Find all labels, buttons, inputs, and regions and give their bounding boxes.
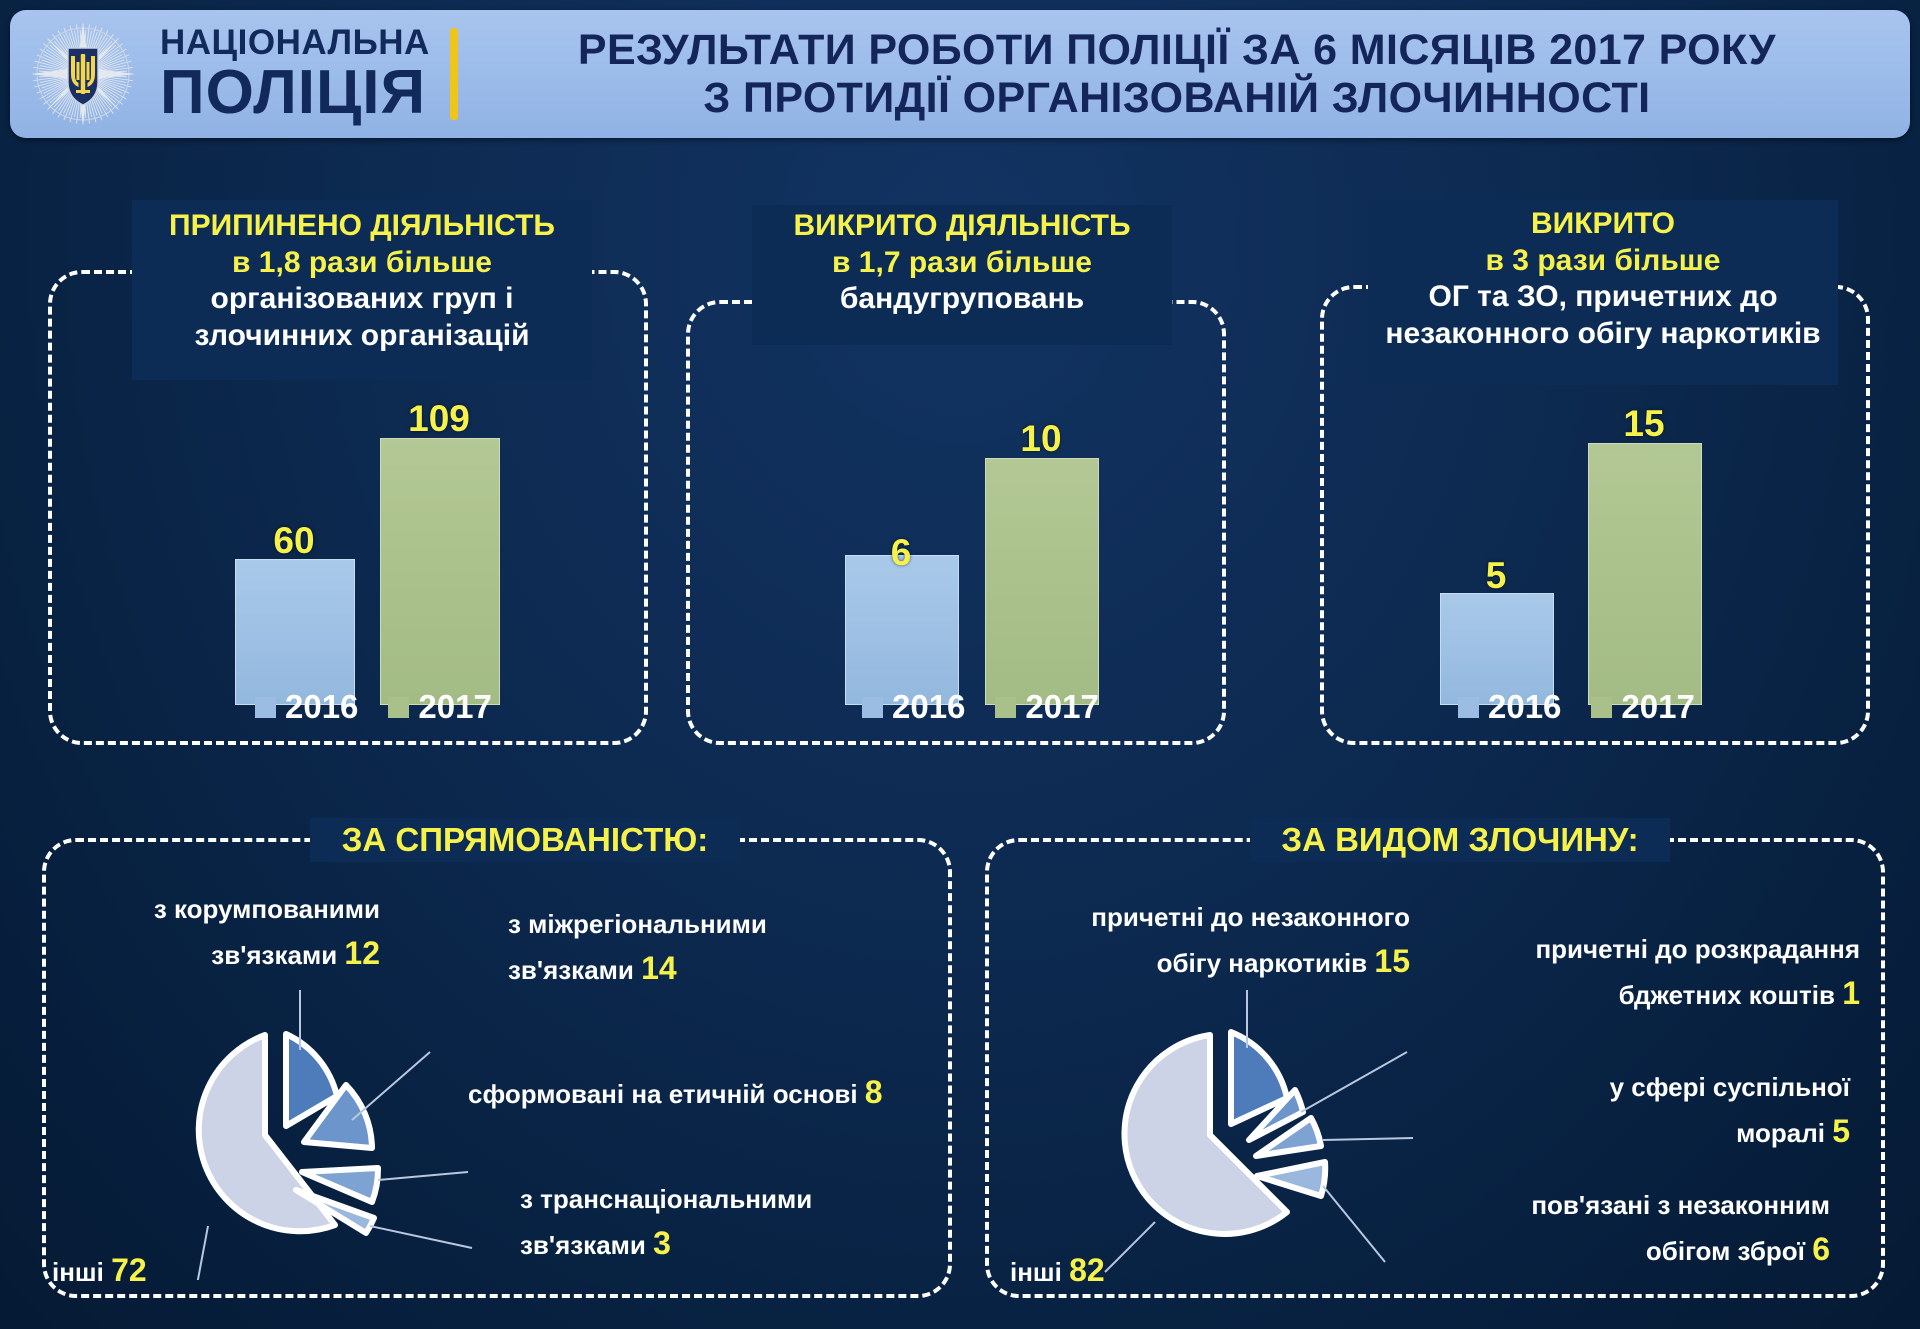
pie-label-interregional-links: з міжрегіональними зв'язками 14	[508, 905, 848, 992]
bar-2017-value: 10	[985, 418, 1097, 460]
legend-item-2016: 2016	[255, 688, 358, 726]
pie-label-ethnic-basis-line1: сформовані на етичній основі	[468, 1079, 858, 1109]
bars-stopped-activity: 60 109	[235, 440, 495, 705]
panel-1-title-white-1: організованих груп і	[122, 281, 602, 318]
panel-1-title-yellow-2: в 1,8 рази більше	[122, 245, 602, 282]
bar-2016-value: 60	[235, 520, 353, 562]
panel-2-title-yellow-1: ВИКРИТО ДІЯЛЬНІСТЬ	[742, 208, 1182, 245]
legend-swatch-2016-icon	[1458, 697, 1479, 718]
brand-line-2: ПОЛІЦІЯ	[160, 62, 430, 124]
brand-wordmark: НАЦІОНАЛЬНА ПОЛІЦІЯ	[160, 25, 430, 124]
pie-label-corrupt-links-line2: зв'язками	[211, 940, 337, 970]
pie-label-drug-trafficking-value: 15	[1374, 943, 1410, 979]
legend-panel-3: 2016 2017	[1458, 688, 1695, 726]
page-header: НАЦІОНАЛЬНА ПОЛІЦІЯ РЕЗУЛЬТАТИ РОБОТИ ПО…	[10, 10, 1910, 138]
pie-label-interregional-links-line2: зв'язками	[508, 955, 634, 985]
pie-label-public-morality: у сфері суспільної моралі 5	[1490, 1068, 1850, 1155]
page-title: РЕЗУЛЬТАТИ РОБОТИ ПОЛІЦІЇ ЗА 6 МІСЯЦІВ 2…	[484, 26, 1910, 122]
pie-label-other-left-line1: інші	[52, 1257, 104, 1287]
panel-5-title: ЗА ВИДОМ ЗЛОЧИНУ:	[1240, 820, 1680, 860]
bars-exposed-activity: 6 10	[845, 460, 1095, 705]
bar-2017-value: 15	[1588, 403, 1700, 445]
bar-2016	[235, 559, 355, 705]
pie-label-drug-trafficking-line2: обігу наркотиків	[1157, 948, 1368, 978]
pie-label-budget-embezzlement: причетні до розкрадання бджетних коштів …	[1470, 930, 1860, 1017]
panel-3-title-white-1: ОГ та ЗО, причетних до	[1358, 279, 1848, 316]
pie-label-weapons-trafficking-line2: обігом зброї	[1646, 1236, 1805, 1266]
legend-label-2016: 2016	[892, 688, 965, 726]
bar-2016-value: 5	[1440, 555, 1552, 597]
pie-by-direction	[90, 990, 490, 1280]
pie-label-drug-trafficking: причетні до незаконного обігу наркотиків…	[1010, 898, 1410, 985]
pie-label-transnational-links: з транснаціональними зв'язками 3	[520, 1180, 870, 1267]
legend-item-2016: 2016	[862, 688, 965, 726]
pie-label-other-right-value: 82	[1069, 1252, 1105, 1288]
bars-exposed-drugs: 5 15	[1440, 445, 1700, 705]
bar-2017	[985, 458, 1099, 705]
brand-line-1: НАЦІОНАЛЬНА	[160, 25, 430, 60]
legend-item-2017: 2017	[995, 688, 1098, 726]
page-title-line-2: З ПРОТИДІЇ ОРГАНІЗОВАНІЙ ЗЛОЧИННОСТІ	[484, 74, 1870, 122]
panel-4-title: ЗА СПРЯМОВАНІСТЮ:	[300, 820, 750, 860]
panel-1-title: ПРИПИНЕНО ДІЯЛЬНІСТЬ в 1,8 рази більше о…	[122, 208, 602, 354]
legend-label-2017: 2017	[1025, 688, 1098, 726]
legend-panel-2: 2016 2017	[862, 688, 1099, 726]
pie-label-public-morality-value: 5	[1832, 1113, 1850, 1149]
ukraine-police-star-emblem	[24, 15, 142, 133]
legend-swatch-2017-icon	[995, 697, 1016, 718]
legend-label-2016: 2016	[1488, 688, 1561, 726]
bar-2017	[1588, 443, 1702, 705]
panel-3-title: ВИКРИТО в 3 рази більше ОГ та ЗО, причет…	[1358, 206, 1848, 352]
legend-label-2016: 2016	[285, 688, 358, 726]
pie-label-other-left-value: 72	[111, 1252, 147, 1288]
legend-item-2017: 2017	[1591, 688, 1694, 726]
header-divider	[450, 28, 458, 120]
pie-label-corrupt-links-value: 12	[344, 935, 380, 971]
pie-label-other-left: інші 72	[52, 1246, 292, 1294]
pie-label-interregional-links-line1: з міжрегіональними	[508, 909, 767, 939]
legend-item-2017: 2017	[388, 688, 491, 726]
legend-panel-1: 2016 2017	[255, 688, 492, 726]
legend-item-2016: 2016	[1458, 688, 1561, 726]
pie-label-transnational-links-value: 3	[653, 1225, 671, 1261]
legend-label-2017: 2017	[1621, 688, 1694, 726]
pie-label-corrupt-links-line1: з корумпованими	[154, 894, 380, 924]
panel-3-title-white-2: незаконного обігу наркотиків	[1358, 316, 1848, 353]
pie-label-transnational-links-line2: зв'язками	[520, 1230, 646, 1260]
legend-swatch-2017-icon	[1591, 697, 1612, 718]
pie-label-corrupt-links: з корумпованими зв'язками 12	[60, 890, 380, 977]
pie-label-budget-embezzlement-line1: причетні до розкрадання	[1535, 934, 1860, 964]
pie-label-transnational-links-line1: з транснаціональними	[520, 1184, 812, 1214]
pie-label-ethnic-basis-value: 8	[865, 1074, 883, 1110]
panel-1-title-white-2: злочинних організацій	[122, 318, 602, 355]
bar-2017-value: 109	[380, 398, 498, 440]
pie-label-ethnic-basis: сформовані на етичній основі 8	[468, 1068, 888, 1116]
bar-2017	[380, 438, 500, 705]
bar-2016-value: 6	[845, 532, 957, 574]
pie-label-budget-embezzlement-line2: бджетних коштів	[1619, 980, 1835, 1010]
pie-label-drug-trafficking-line1: причетні до незаконного	[1091, 902, 1410, 932]
legend-swatch-2016-icon	[862, 697, 883, 718]
panel-3-title-yellow-2: в 3 рази більше	[1358, 243, 1848, 280]
pie-label-weapons-trafficking-line1: пов'язані з незаконним	[1531, 1190, 1830, 1220]
pie-label-public-morality-line1: у сфері суспільної	[1610, 1072, 1850, 1102]
legend-label-2017: 2017	[418, 688, 491, 726]
page-title-line-1: РЕЗУЛЬТАТИ РОБОТИ ПОЛІЦІЇ ЗА 6 МІСЯЦІВ 2…	[484, 26, 1870, 74]
pie-by-crime-type	[1035, 990, 1435, 1280]
pie-label-budget-embezzlement-value: 1	[1842, 975, 1860, 1011]
panel-2-title-white-1: бандугруповань	[742, 281, 1182, 318]
pie-label-interregional-links-value: 14	[641, 950, 677, 986]
legend-swatch-2017-icon	[388, 697, 409, 718]
pie-label-weapons-trafficking-value: 6	[1812, 1231, 1830, 1267]
legend-swatch-2016-icon	[255, 697, 276, 718]
pie-label-other-right-line1: інші	[1010, 1257, 1062, 1287]
panel-2-title: ВИКРИТО ДІЯЛЬНІСТЬ в 1,7 рази більше бан…	[742, 208, 1182, 318]
pie-label-other-right: інші 82	[1010, 1246, 1250, 1294]
panel-3-title-yellow-1: ВИКРИТО	[1358, 206, 1848, 243]
bar-2016	[845, 555, 959, 705]
panel-2-title-yellow-2: в 1,7 рази більше	[742, 245, 1182, 282]
panel-1-title-yellow-1: ПРИПИНЕНО ДІЯЛЬНІСТЬ	[122, 208, 602, 245]
pie-label-public-morality-line2: моралі	[1736, 1118, 1825, 1148]
pie-label-weapons-trafficking: пов'язані з незаконним обігом зброї 6	[1400, 1186, 1830, 1273]
